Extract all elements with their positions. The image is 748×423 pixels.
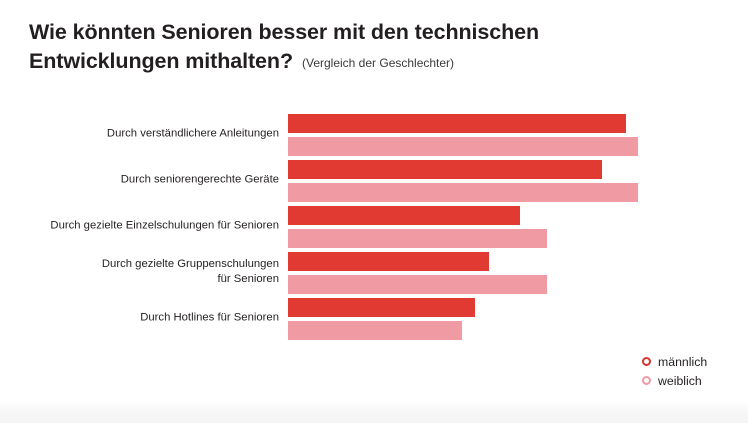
bar-female[interactable]	[287, 182, 639, 203]
chart-title-line-2: Entwicklungen mithalten?	[29, 47, 293, 76]
bar-group: Durch Hotlines für Senioren	[0, 297, 748, 339]
category-label: Durch gezielte Gruppenschulungenfür Seni…	[9, 257, 279, 287]
chart-title-line-2-row: Entwicklungen mithalten? (Vergleich der …	[29, 47, 719, 79]
category-label-line: Durch Hotlines für Senioren	[9, 311, 279, 326]
chart-title-block: Wie könnten Senioren besser mit den tech…	[29, 18, 719, 79]
bar-group: Durch verständlichere Anleitungen	[0, 113, 748, 155]
ring-icon-male	[642, 357, 651, 366]
category-label-line: Durch gezielte Gruppenschulungen	[9, 257, 279, 272]
bottom-gradient-band	[0, 401, 748, 423]
category-label-line: Durch gezielte Einzelschulungen für Seni…	[9, 219, 279, 234]
bar-pair	[287, 113, 639, 157]
category-label: Durch verständlichere Anleitungen	[9, 127, 279, 142]
bar-pair	[287, 159, 639, 203]
bar-female[interactable]	[287, 136, 639, 157]
bar-pair	[287, 205, 548, 249]
bar-group: Durch gezielte Einzelschulungen für Seni…	[0, 205, 748, 247]
bar-chart-figure: Wie könnten Senioren besser mit den tech…	[0, 0, 748, 423]
bar-female[interactable]	[287, 274, 548, 295]
plot-area: Durch verständlichere AnleitungenDurch s…	[0, 113, 748, 353]
category-label: Durch gezielte Einzelschulungen für Seni…	[9, 219, 279, 234]
category-label-line: für Senioren	[9, 272, 279, 287]
bar-male[interactable]	[287, 159, 603, 180]
ring-icon-female	[642, 376, 651, 385]
legend-label-female: weiblich	[658, 374, 702, 388]
chart-legend: männlich weiblich	[642, 352, 742, 390]
bar-group: Durch seniorengerechte Geräte	[0, 159, 748, 201]
bar-male[interactable]	[287, 205, 521, 226]
bar-pair	[287, 297, 476, 341]
bar-female[interactable]	[287, 228, 548, 249]
chart-title-line-1: Wie könnten Senioren besser mit den tech…	[29, 18, 719, 47]
bar-pair	[287, 251, 548, 295]
category-label-line: Durch verständlichere Anleitungen	[9, 127, 279, 142]
legend-label-male: männlich	[658, 355, 707, 369]
legend-item-female[interactable]: weiblich	[642, 371, 742, 390]
bar-group: Durch gezielte Gruppenschulungenfür Seni…	[0, 251, 748, 293]
bar-female[interactable]	[287, 320, 463, 341]
chart-subtitle: (Vergleich der Geschlechter)	[302, 49, 454, 78]
bar-male[interactable]	[287, 297, 476, 318]
bar-male[interactable]	[287, 251, 490, 272]
category-label: Durch seniorengerechte Geräte	[9, 173, 279, 188]
bar-male[interactable]	[287, 113, 627, 134]
category-label-line: Durch seniorengerechte Geräte	[9, 173, 279, 188]
category-label: Durch Hotlines für Senioren	[9, 311, 279, 326]
legend-item-male[interactable]: männlich	[642, 352, 742, 371]
